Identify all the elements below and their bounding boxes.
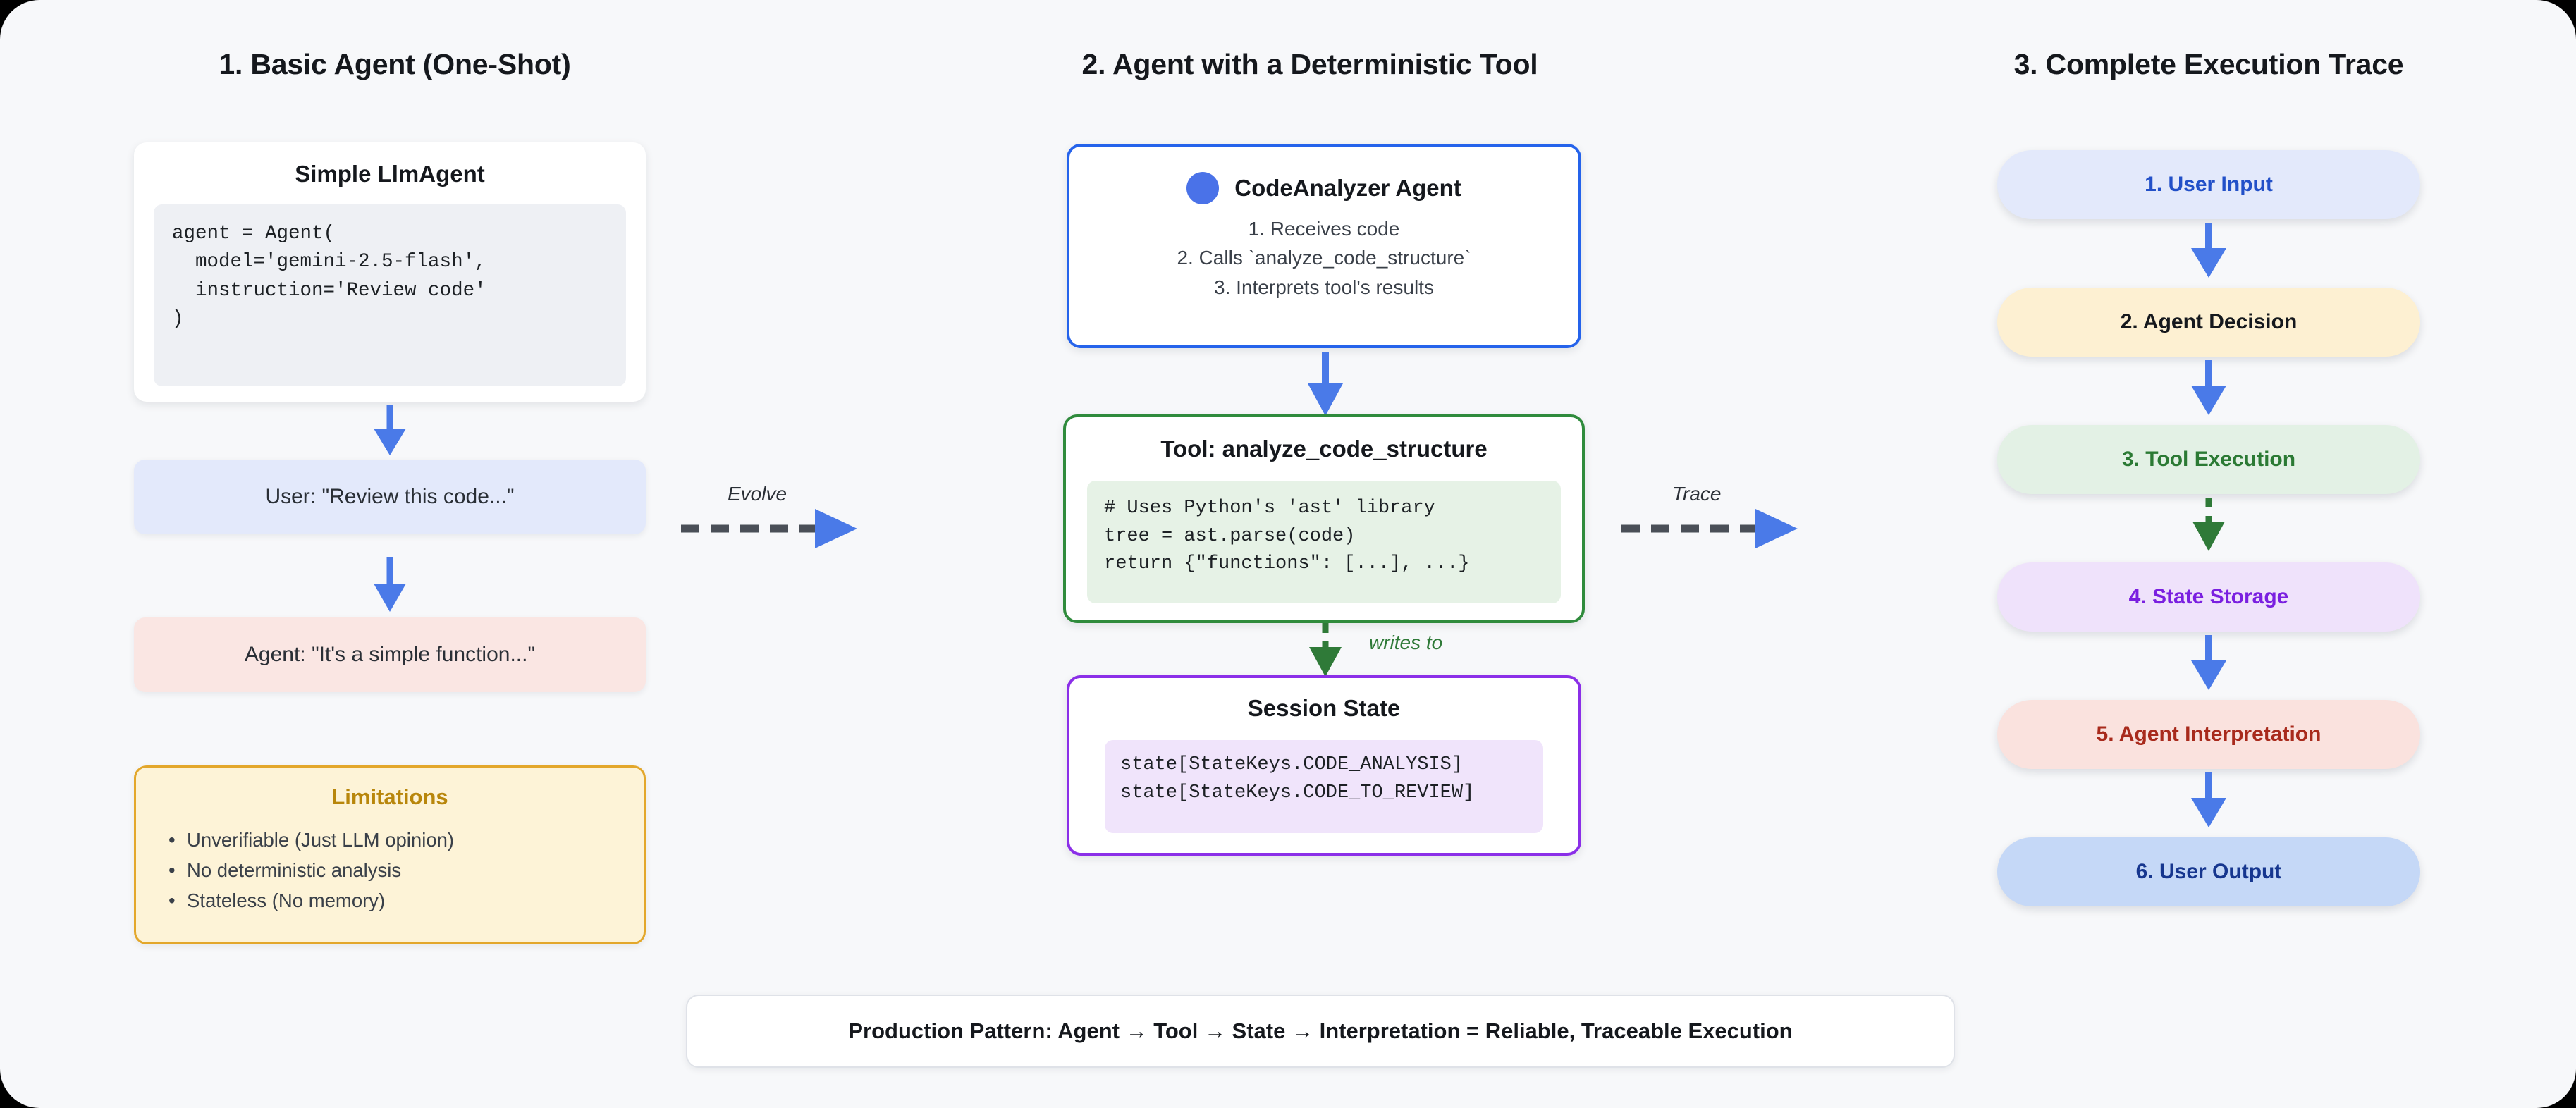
codeanalyzer-agent-title: CodeAnalyzer Agent	[1234, 175, 1461, 202]
trace-step-agent-interpretation: 5. Agent Interpretation	[1997, 700, 2420, 769]
evolve-dashed-arrow	[681, 506, 864, 551]
trace-step-label: 3. Tool Execution	[2122, 448, 2295, 472]
arrow-down-writes-to-state	[1299, 623, 1351, 678]
arrow-down-step-1-2	[2183, 223, 2235, 279]
arrow-down-step-5-6	[2183, 772, 2235, 829]
column-title-execution-trace: 3. Complete Execution Trace	[1967, 48, 2451, 81]
codeanalyzer-header: CodeAnalyzer Agent	[1069, 172, 1578, 204]
trace-step-label: 1. User Input	[2145, 173, 2273, 197]
simple-llmagent-title: Simple LlmAgent	[134, 161, 646, 187]
trace-step-label: 6. User Output	[2136, 860, 2282, 884]
arrow-down-step-3-4	[2183, 498, 2235, 554]
trace-step-state-storage: 4. State Storage	[1997, 562, 2420, 632]
list-item: Unverifiable (Just LLM opinion)	[168, 825, 644, 856]
tool-card: Tool: analyze_code_structure # Uses Pyth…	[1063, 414, 1585, 623]
agent-dot-icon	[1186, 172, 1219, 204]
trace-step-user-input: 1. User Input	[1997, 150, 2420, 219]
simple-llmagent-card: Simple LlmAgent agent = Agent( model='ge…	[134, 142, 646, 402]
trace-step-label: 5. Agent Interpretation	[2097, 722, 2322, 746]
arrow-down-card-to-user	[364, 405, 416, 457]
writes-to-label: writes to	[1369, 632, 1442, 654]
tool-code-block: # Uses Python's 'ast' library tree = ast…	[1087, 481, 1561, 603]
trace-dashed-arrow	[1621, 506, 1805, 551]
limitations-card: Limitations Unverifiable (Just LLM opini…	[134, 765, 646, 944]
list-item: 1. Receives code	[1069, 214, 1578, 243]
production-pattern-banner: Production Pattern: Agent → Tool → State…	[686, 995, 1955, 1068]
list-item: 3. Interprets tool's results	[1069, 273, 1578, 302]
arrow-down-step-2-3	[2183, 360, 2235, 417]
arrow-down-user-to-agent	[364, 557, 416, 613]
trace-step-tool-execution: 3. Tool Execution	[1997, 425, 2420, 494]
trace-step-agent-decision: 2. Agent Decision	[1997, 288, 2420, 357]
codeanalyzer-steps: 1. Receives code 2. Calls `analyze_code_…	[1069, 214, 1578, 302]
trace-step-user-output: 6. User Output	[1997, 837, 2420, 906]
arrow-down-step-4-5	[2183, 635, 2235, 691]
tool-card-title: Tool: analyze_code_structure	[1066, 436, 1582, 462]
list-item: Stateless (No memory)	[168, 886, 644, 916]
diagram-canvas: 1. Basic Agent (One-Shot) 2. Agent with …	[0, 0, 2576, 1108]
trace-step-label: 2. Agent Decision	[2121, 310, 2298, 334]
evolve-label: Evolve	[728, 483, 787, 505]
list-item: No deterministic analysis	[168, 856, 644, 886]
arrow-down-agent-to-tool	[1299, 352, 1351, 417]
codeanalyzer-agent-card: CodeAnalyzer Agent 1. Receives code 2. C…	[1067, 144, 1581, 348]
user-message-box: User: "Review this code..."	[134, 460, 646, 534]
agent-message-box: Agent: "It's a simple function..."	[134, 617, 646, 692]
list-item: 2. Calls `analyze_code_structure`	[1069, 243, 1578, 272]
session-state-card: Session State state[StateKeys.CODE_ANALY…	[1067, 675, 1581, 856]
production-pattern-text: Production Pattern: Agent → Tool → State…	[848, 1018, 1792, 1044]
column-title-agent-with-tool: 2. Agent with a Deterministic Tool	[1043, 48, 1576, 81]
agent-message-text: Agent: "It's a simple function..."	[245, 643, 535, 667]
session-state-code-block: state[StateKeys.CODE_ANALYSIS] state[Sta…	[1105, 740, 1543, 833]
simple-llmagent-code-block: agent = Agent( model='gemini-2.5-flash',…	[154, 204, 626, 386]
limitations-title: Limitations	[136, 784, 644, 810]
limitations-list: Unverifiable (Just LLM opinion) No deter…	[136, 825, 644, 916]
session-state-title: Session State	[1069, 695, 1578, 722]
trace-step-label: 4. State Storage	[2129, 585, 2289, 609]
trace-label: Trace	[1672, 483, 1722, 505]
column-title-basic-agent: 1. Basic Agent (One-Shot)	[180, 48, 609, 81]
user-message-text: User: "Review this code..."	[265, 485, 514, 509]
